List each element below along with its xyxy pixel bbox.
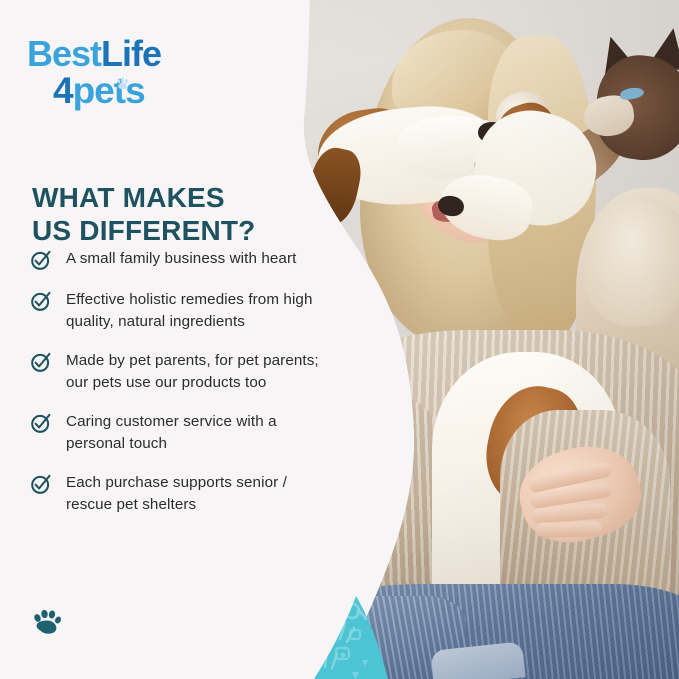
list-item: Made by pet parents, for pet parents; ou… <box>30 350 322 393</box>
list-item-label: Made by pet parents, for pet parents; ou… <box>66 350 322 393</box>
list-item-label: Caring customer service with a personal … <box>66 411 322 454</box>
check-circle-icon <box>30 290 52 312</box>
bestlife4pets-logo[interactable]: BestLife 4pets <box>27 36 197 114</box>
list-item-label: A small family business with heart <box>66 248 296 270</box>
product-benefits-infographic: BestLife 4pets WHAT MAKESUS DIFFERENT? A… <box>0 0 679 679</box>
logo-word-four: 4 <box>53 70 73 111</box>
list-item-label: Each purchase supports senior / rescue p… <box>66 472 322 515</box>
wall-shelf <box>8 126 208 146</box>
paw-print-icon <box>30 605 64 639</box>
list-item: A small family business with heart <box>30 248 322 271</box>
list-item: Caring customer service with a personal … <box>30 411 322 454</box>
benefits-list: A small family business with heart Effec… <box>30 248 322 534</box>
check-circle-icon <box>30 412 52 434</box>
logo-line-two: 4pets <box>53 72 145 109</box>
paw-print-icon <box>115 76 130 91</box>
headline-line-two: US DIFFERENT? <box>32 215 255 246</box>
logo-word-pets: pets <box>73 70 145 111</box>
page-title: WHAT MAKESUS DIFFERENT? <box>32 181 312 247</box>
check-circle-icon <box>30 249 52 271</box>
list-item: Effective holistic remedies from high qu… <box>30 289 322 332</box>
logo-word-life: Life <box>101 33 161 74</box>
logo-word-best: Best <box>27 33 101 74</box>
list-item-label: Effective holistic remedies from high qu… <box>66 289 322 332</box>
logo-line-one: BestLife <box>27 36 161 72</box>
list-item: Each purchase supports senior / rescue p… <box>30 472 322 515</box>
content-panel: BestLife 4pets WHAT MAKESUS DIFFERENT? A… <box>0 0 320 679</box>
headline-line-one: WHAT MAKES <box>32 182 225 213</box>
check-circle-icon <box>30 473 52 495</box>
check-circle-icon <box>30 351 52 373</box>
